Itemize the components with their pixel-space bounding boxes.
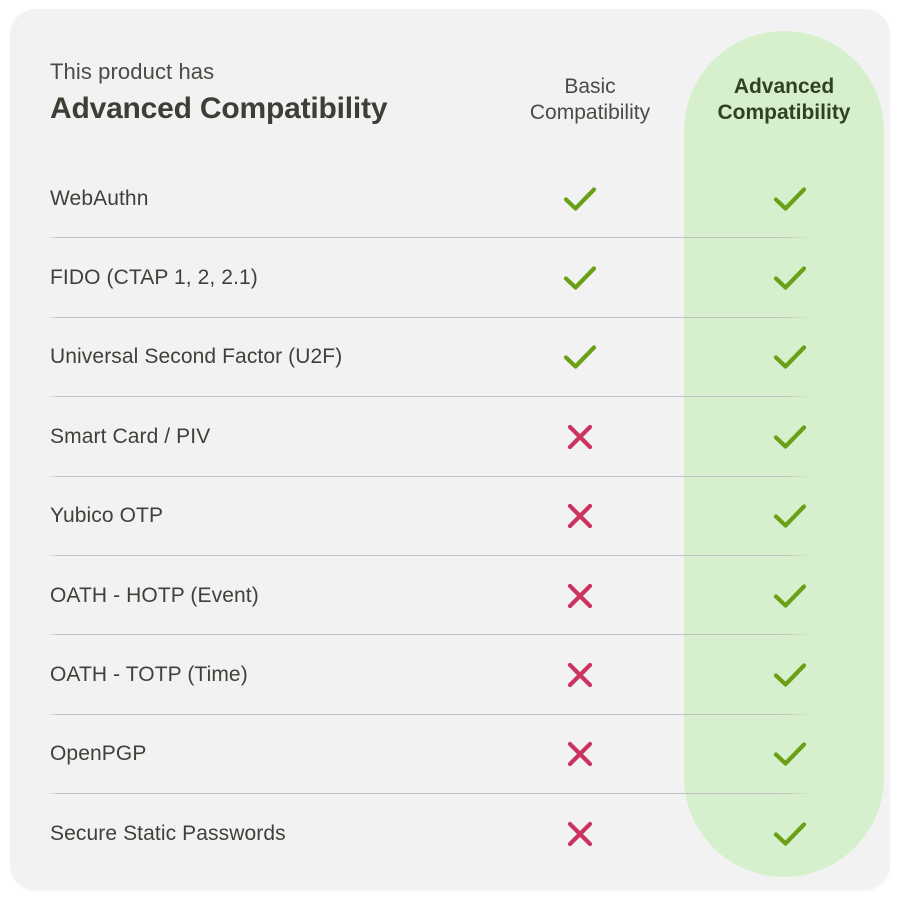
title-kicker: This product has [50, 57, 510, 87]
cell-advanced [760, 417, 820, 457]
cell-advanced [760, 337, 820, 377]
cross-icon [566, 820, 594, 848]
comparison-card: This product has Advanced Compatibility … [10, 9, 890, 890]
cell-basic [550, 496, 610, 536]
table-row: Universal Second Factor (U2F) [10, 318, 890, 397]
row-label: Smart Card / PIV [50, 425, 210, 449]
cross-icon [566, 661, 594, 689]
row-label: OATH - HOTP (Event) [50, 584, 259, 608]
cell-basic [550, 814, 610, 854]
column-header-basic-line1: Basic [490, 74, 690, 100]
page-title: Advanced Compatibility [50, 89, 510, 129]
cross-icon [566, 502, 594, 530]
table-row: WebAuthn [10, 159, 890, 238]
cell-basic [550, 258, 610, 298]
column-header-advanced-line2: Compatibility [684, 100, 884, 126]
title-block: This product has Advanced Compatibility [50, 57, 510, 129]
row-label: Secure Static Passwords [50, 822, 286, 846]
check-icon [773, 740, 807, 768]
table-row: Smart Card / PIV [10, 397, 890, 476]
cell-basic [550, 734, 610, 774]
row-label: Yubico OTP [50, 504, 163, 528]
cell-advanced [760, 814, 820, 854]
column-header-basic-line2: Compatibility [490, 100, 690, 126]
cell-advanced [760, 576, 820, 616]
check-icon [773, 820, 807, 848]
table-row: Yubico OTP [10, 477, 890, 556]
row-label: Universal Second Factor (U2F) [50, 345, 342, 369]
table-row: Secure Static Passwords [10, 794, 890, 873]
cross-icon [566, 582, 594, 610]
check-icon [773, 423, 807, 451]
table-row: OATH - HOTP (Event) [10, 556, 890, 635]
check-icon [773, 502, 807, 530]
check-icon [773, 264, 807, 292]
check-icon [563, 343, 597, 371]
compatibility-comparison-page: This product has Advanced Compatibility … [0, 0, 900, 899]
check-icon [773, 661, 807, 689]
cell-advanced [760, 258, 820, 298]
check-icon [563, 264, 597, 292]
table-header: This product has Advanced Compatibility … [10, 9, 890, 159]
column-header-basic: Basic Compatibility [490, 74, 690, 126]
cross-icon [566, 423, 594, 451]
table-row: OpenPGP [10, 715, 890, 794]
table-row: OATH - TOTP (Time) [10, 635, 890, 714]
cell-basic [550, 576, 610, 616]
table-row: FIDO (CTAP 1, 2, 2.1) [10, 238, 890, 317]
cell-basic [550, 179, 610, 219]
cell-basic [550, 417, 610, 457]
check-icon [773, 185, 807, 213]
row-label: OATH - TOTP (Time) [50, 663, 248, 687]
cell-advanced [760, 179, 820, 219]
column-header-advanced: Advanced Compatibility [684, 74, 884, 126]
row-label: OpenPGP [50, 742, 146, 766]
cell-advanced [760, 655, 820, 695]
cell-advanced [760, 734, 820, 774]
column-header-advanced-line1: Advanced [684, 74, 884, 100]
cell-advanced [760, 496, 820, 536]
row-label: WebAuthn [50, 187, 148, 211]
check-icon [563, 185, 597, 213]
cell-basic [550, 337, 610, 377]
row-label: FIDO (CTAP 1, 2, 2.1) [50, 266, 258, 290]
cross-icon [566, 740, 594, 768]
check-icon [773, 582, 807, 610]
cell-basic [550, 655, 610, 695]
check-icon [773, 343, 807, 371]
comparison-rows: WebAuthnFIDO (CTAP 1, 2, 2.1)Universal S… [10, 159, 890, 874]
